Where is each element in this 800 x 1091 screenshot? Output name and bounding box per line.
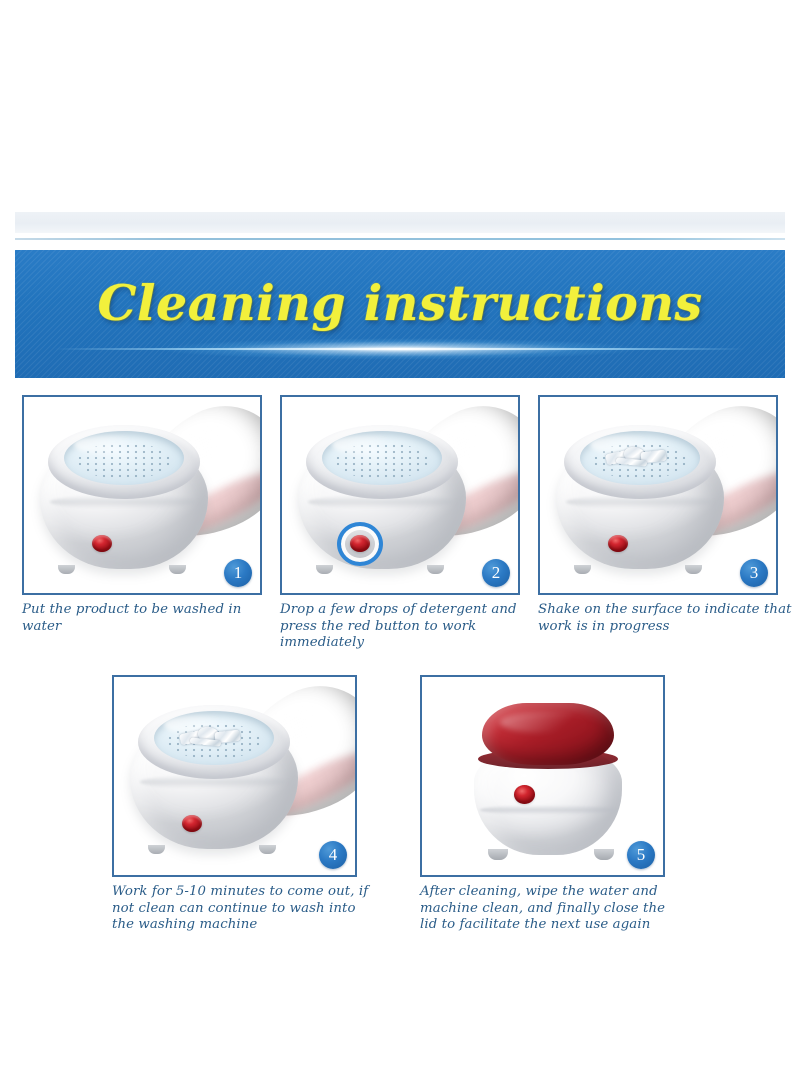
banner-flare-streak-icon bbox=[55, 348, 745, 350]
device-foot bbox=[259, 845, 276, 854]
water-sheen bbox=[164, 715, 230, 733]
device-rim bbox=[564, 425, 716, 499]
step-photo: 3 bbox=[538, 395, 778, 595]
device-foot bbox=[169, 565, 186, 574]
water-sheen bbox=[74, 435, 140, 453]
device-illustration-closed bbox=[422, 677, 663, 875]
power-button-icon bbox=[92, 535, 112, 552]
step-caption: Put the product to be washed in water bbox=[22, 602, 280, 635]
device-foot bbox=[427, 565, 444, 574]
power-button-icon bbox=[608, 535, 628, 552]
step-number-badge: 2 bbox=[482, 559, 510, 587]
device-tub bbox=[322, 431, 442, 485]
device-illustration bbox=[282, 397, 518, 593]
step-item: 2 Drop a few drops of detergent and pres… bbox=[280, 395, 520, 652]
power-button-icon bbox=[514, 785, 535, 804]
device-illustration bbox=[114, 677, 355, 875]
step-caption: Drop a few drops of detergent and press … bbox=[280, 602, 538, 652]
step-photo: 5 bbox=[420, 675, 665, 877]
body-seam bbox=[480, 805, 616, 815]
device-body bbox=[40, 437, 208, 569]
steps-row-bottom: 4 Work for 5-10 minutes to come out, if … bbox=[112, 675, 665, 934]
device-body bbox=[298, 437, 466, 569]
device-foot bbox=[594, 849, 614, 860]
power-button-icon bbox=[350, 535, 370, 552]
device-foot bbox=[574, 565, 591, 574]
device-illustration bbox=[540, 397, 776, 593]
header-divider-rule bbox=[15, 238, 785, 240]
step-number-badge: 1 bbox=[224, 559, 252, 587]
page-title: Cleaning instructions bbox=[15, 274, 785, 332]
banner: Cleaning instructions bbox=[15, 250, 785, 378]
device-illustration bbox=[24, 397, 260, 593]
banner-lens-flare-icon bbox=[70, 336, 730, 362]
step-item: 5 After cleaning, wipe the water and mac… bbox=[420, 675, 665, 934]
step-number-badge: 3 bbox=[740, 559, 768, 587]
step-item: 4 Work for 5-10 minutes to come out, if … bbox=[112, 675, 357, 934]
steps-row-top: 1 Put the product to be washed in water bbox=[22, 395, 778, 652]
step-number-badge: 4 bbox=[319, 841, 347, 869]
power-button-icon bbox=[182, 815, 202, 832]
device-rim bbox=[306, 425, 458, 499]
device-foot bbox=[316, 565, 333, 574]
device-foot bbox=[148, 845, 165, 854]
step-number-badge: 5 bbox=[627, 841, 655, 869]
water-sheen bbox=[590, 435, 656, 453]
closed-lid-icon bbox=[482, 703, 614, 765]
device-foot bbox=[488, 849, 508, 860]
step-photo: 1 bbox=[22, 395, 262, 595]
step-item: 1 Put the product to be washed in water bbox=[22, 395, 262, 652]
water-sheen bbox=[332, 435, 398, 453]
device-tub bbox=[154, 711, 274, 765]
device-foot bbox=[685, 565, 702, 574]
device-tub bbox=[64, 431, 184, 485]
device-foot bbox=[58, 565, 75, 574]
device-tub bbox=[580, 431, 700, 485]
step-item: 3 Shake on the surface to indicate that … bbox=[538, 395, 778, 652]
device-rim bbox=[138, 705, 290, 779]
device-rim bbox=[48, 425, 200, 499]
step-caption: Shake on the surface to indicate that wo… bbox=[538, 602, 800, 635]
step-photo: 4 bbox=[112, 675, 357, 877]
instruction-sheet: Cleaning instructions bbox=[0, 0, 800, 1091]
step-caption: Work for 5-10 minutes to come out, if no… bbox=[112, 884, 374, 934]
step-photo: 2 bbox=[280, 395, 520, 595]
step-caption: After cleaning, wipe the water and machi… bbox=[420, 884, 682, 934]
device-body bbox=[556, 437, 724, 569]
header-divider-band bbox=[15, 212, 785, 233]
device-body bbox=[130, 717, 298, 849]
